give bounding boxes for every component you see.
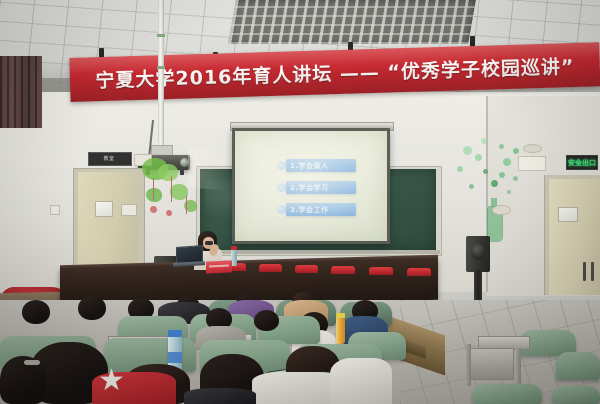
audience-shoulders (184, 388, 256, 404)
light-switch[interactable] (50, 205, 60, 215)
slide-row-label: 1.学会做人 (290, 161, 329, 171)
slide-bullet-icon (277, 183, 286, 192)
pole-band (157, 34, 165, 37)
bottle-cap-icon (336, 313, 345, 318)
door-handle-icon[interactable] (591, 262, 594, 281)
door-handle-icon[interactable] (583, 262, 586, 281)
curtain-folds (0, 56, 42, 128)
tree-wall-decal (140, 158, 204, 220)
ceiling-light-louver-icon (228, 0, 476, 44)
wall-control-box[interactable] (518, 156, 546, 171)
bottle-cap-icon (231, 246, 237, 250)
exit-sign: 安全出口 (566, 155, 598, 170)
red-desk-item (259, 264, 282, 272)
slide-row: 1.学会做人 (286, 159, 356, 172)
audience-head (254, 310, 279, 331)
microphone-icon (205, 241, 213, 245)
audience-head (78, 296, 106, 320)
wall-speaker-icon (492, 205, 511, 215)
empty-seat-back (472, 384, 542, 404)
left-door-sign-text: 教室 (88, 152, 130, 164)
bottle-wall-decal (455, 136, 533, 244)
seat-desk-side (470, 348, 514, 380)
slide-row: 3.学会工作 (286, 203, 356, 216)
pole-band (157, 66, 165, 69)
bottle-cap-icon (168, 330, 182, 337)
event-banner-text: 宁夏大学2016年育人讲坛 —— “优秀学子校园巡讲” (70, 51, 600, 94)
right-door-window (558, 207, 578, 222)
ceiling-pole (158, 0, 164, 152)
red-desk-item (407, 268, 431, 276)
left-door-plate (121, 204, 137, 216)
slide-row: 2.学会学习 (286, 181, 356, 194)
lecture-hall-photo: 宁夏大学2016年育人讲坛 —— “优秀学子校园巡讲” 教室 (0, 0, 600, 404)
slide-bullet-icon (277, 205, 286, 214)
bottle-label (168, 352, 182, 363)
smoke-detector-icon (523, 144, 542, 153)
speaker-cone-icon (471, 243, 485, 260)
left-door[interactable] (78, 172, 138, 276)
red-desk-item (295, 265, 318, 273)
orange-drink-bottle (336, 318, 345, 344)
slide-bullet-icon (277, 161, 286, 170)
left-door-window (95, 201, 113, 217)
slide-row-label: 3.学会工作 (290, 205, 329, 215)
seat-frame-leg (466, 344, 471, 386)
slide-row-label: 2.学会学习 (290, 183, 329, 193)
empty-seat-back (552, 386, 600, 404)
empty-seat-back (556, 352, 600, 380)
red-desk-item (331, 266, 355, 274)
exit-sign-text: 安全出口 (568, 158, 596, 168)
red-desk-item (369, 267, 393, 275)
eyeglasses-icon (24, 360, 40, 365)
audience-shoulders (330, 358, 392, 404)
audience-head (22, 300, 50, 324)
